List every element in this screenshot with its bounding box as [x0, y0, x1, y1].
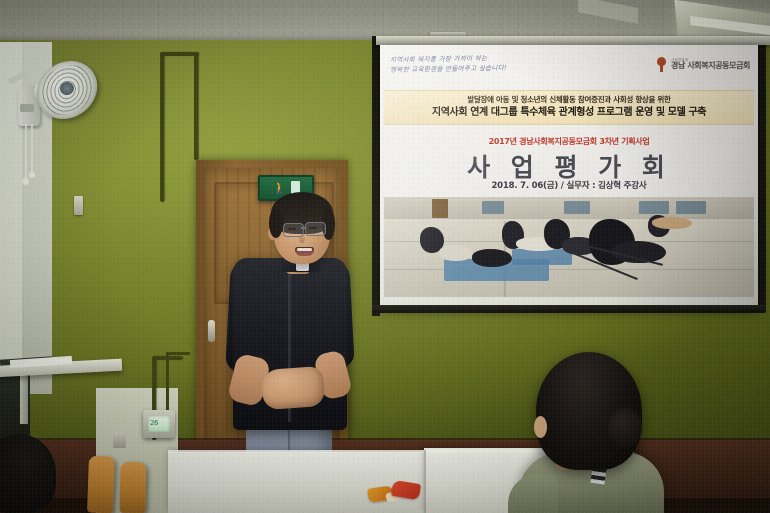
chair[interactable] [120, 462, 147, 513]
screen-arm-right [757, 40, 766, 310]
presentation-slide: 지역사회 복지를 가장 가까이 하는 행복한 교육환경을 만들어주고 싶습니다!… [380, 45, 758, 309]
thermostat-cable [166, 352, 169, 412]
table [168, 452, 426, 513]
projection-screen: 지역사회 복지를 가장 가까이 하는 행복한 교육환경을 만들어주고 싶습니다!… [380, 45, 758, 309]
speaker-teeth [297, 248, 312, 251]
slide-subtitle-band: 발달장애 아동 및 청소년의 신체활동 참여증진과 사회성 향상을 위한 지역사… [384, 90, 754, 125]
running-man-icon: 🚶 [272, 182, 287, 194]
slide-program-line: 2017년 경남사회복지공동모금회 3차년 기획사업 [380, 136, 758, 147]
slide-band-line-2: 지역사회 연계 대그룹 특수체육 관계형성 프로그램 운영 및 모델 구축 [384, 106, 754, 120]
table-seam [424, 450, 426, 513]
speaker-hair-side [269, 208, 283, 238]
speaker-nose [299, 234, 305, 243]
slide-photo-gym [384, 197, 754, 297]
eyeglasses-icon [305, 222, 326, 236]
slide-date-line: 2018. 7. 06(금) / 실무자 : 김상혁 주강사 [380, 179, 758, 191]
thermostat-cable [166, 352, 190, 355]
speaker-eye [309, 227, 317, 229]
eyeglasses-bridge [301, 227, 306, 229]
gym-window [482, 201, 504, 214]
wall-conduit [160, 52, 198, 56]
gym-window [564, 201, 590, 214]
audience-woman-hair-bun [608, 408, 642, 448]
screen-roller-case [376, 36, 770, 45]
slide-handwriting: 지역사회 복지를 가장 가까이 하는 행복한 교육환경을 만들어주고 싶습니다! [390, 51, 610, 75]
audience-woman-ear [534, 416, 547, 438]
wall-conduit [194, 52, 198, 160]
fan-switch[interactable] [20, 104, 34, 112]
gym-door [432, 199, 448, 218]
community-chest-tree-icon [655, 57, 668, 72]
slide-band-line-1: 발달장애 아동 및 청소년의 신체활동 참여증진과 사회성 향상을 위한 [384, 94, 754, 106]
gym-person [472, 249, 512, 267]
podium-leg [20, 374, 28, 424]
photo-scene: 🚶 지역사회 복지를 가장 가까이 하는 행복한 교육환경을 만들어주고 싶습니… [0, 0, 770, 513]
gym-person [652, 217, 692, 229]
gym-window [639, 201, 669, 214]
fan-pull-cord[interactable] [31, 124, 33, 174]
wall-outlet[interactable] [113, 432, 126, 448]
gym-window [676, 201, 706, 214]
door-handle[interactable] [208, 320, 215, 342]
chair[interactable] [87, 456, 115, 513]
fan-cord-knob[interactable] [29, 172, 35, 178]
speaker-eye [288, 228, 296, 230]
logo-name: 경남 사회복지공동모금회 [671, 62, 750, 70]
thermostat-reading: 26 [150, 419, 168, 427]
slide-logo-text: 사랑의열매 경남 사회복지공동모금회 [671, 59, 750, 71]
slide-logo: 사랑의열매 경남 사회복지공동모금회 [655, 57, 750, 72]
screen-arm-left [372, 36, 380, 316]
wall-plate[interactable] [74, 196, 83, 215]
gym-mat [512, 249, 572, 265]
fan-pull-cord[interactable] [25, 124, 27, 180]
screen-bottom-bar [372, 305, 766, 313]
gym-person [439, 245, 473, 261]
gym-floor-line [384, 269, 754, 270]
speaker-clasped-hands [261, 366, 326, 410]
fan-cord-knob[interactable] [22, 178, 29, 185]
wall-conduit [160, 52, 164, 202]
